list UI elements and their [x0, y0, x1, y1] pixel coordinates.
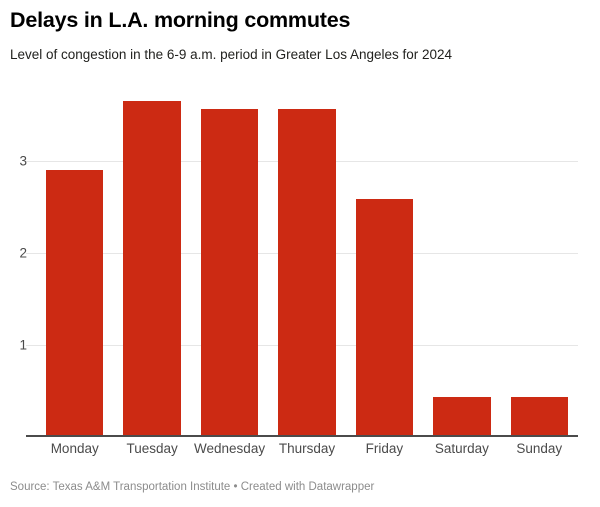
chart-subtitle: Level of congestion in the 6-9 a.m. peri…: [10, 47, 452, 63]
chart-card: Delays in L.A. morning commutes Level of…: [0, 0, 600, 507]
bar[interactable]: [433, 397, 491, 437]
y-tick-mark: [26, 253, 36, 254]
y-tick-mark: [26, 345, 36, 346]
bar[interactable]: [356, 199, 414, 437]
bar[interactable]: [201, 109, 259, 437]
y-tick-label: 1: [19, 338, 27, 352]
y-tick-label: 3: [19, 155, 27, 169]
x-axis-label: Friday: [346, 441, 423, 457]
x-axis-label: Thursday: [268, 441, 345, 457]
x-axis-line: [26, 435, 578, 437]
bar[interactable]: [511, 397, 569, 437]
y-tick-mark: [26, 161, 36, 162]
plot-area: 123: [36, 85, 578, 437]
x-axis-label: Tuesday: [113, 441, 190, 457]
chart-source-footer: Source: Texas A&M Transportation Institu…: [10, 481, 374, 495]
bar[interactable]: [278, 109, 336, 437]
bar[interactable]: [123, 101, 181, 437]
x-axis-labels: MondayTuesdayWednesdayThursdayFridaySatu…: [36, 441, 578, 461]
y-tick-label: 2: [19, 246, 27, 260]
x-axis-label: Monday: [36, 441, 113, 457]
x-axis-label: Sunday: [501, 441, 578, 457]
bar-series: [36, 85, 578, 437]
chart-title: Delays in L.A. morning commutes: [10, 8, 350, 33]
bar[interactable]: [46, 170, 104, 437]
x-axis-label: Saturday: [423, 441, 500, 457]
x-axis-label: Wednesday: [191, 441, 268, 457]
